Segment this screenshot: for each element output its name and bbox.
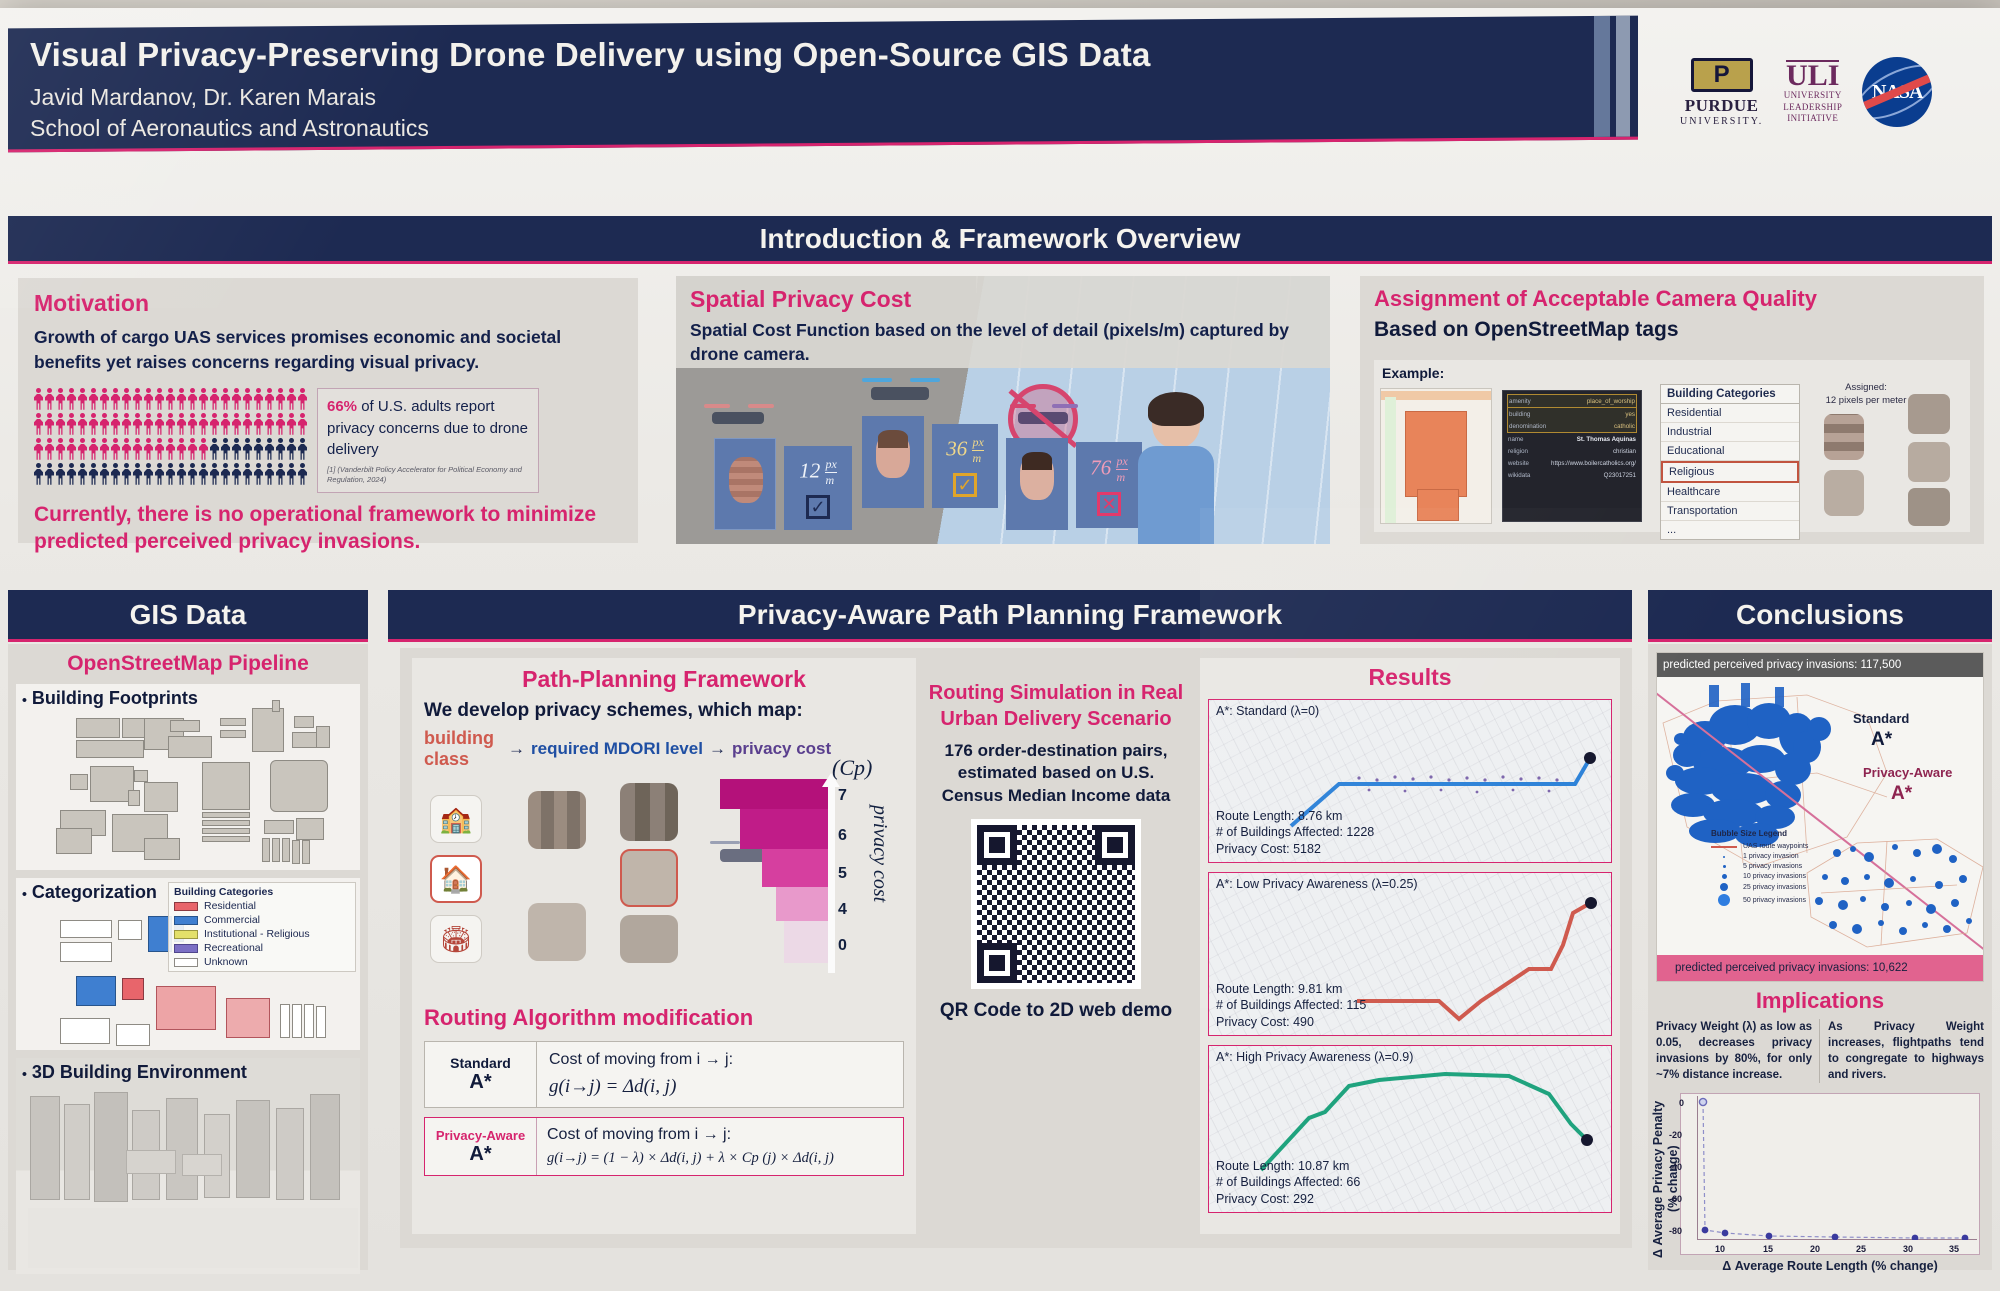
- spatial-body: Spatial Cost Function based on the level…: [690, 318, 1316, 366]
- result-stats: Route Length: 8.76 km # of Buildings Aff…: [1216, 808, 1374, 858]
- result-label: A*: Low Privacy Awareness (λ=0.25): [1216, 877, 1418, 891]
- assigned-value: 12 pixels per meter: [1818, 395, 1914, 408]
- result-stats: Route Length: 10.87 km # of Buildings Af…: [1216, 1158, 1360, 1208]
- result-stats: Route Length: 9.81 km # of Buildings Aff…: [1216, 981, 1366, 1031]
- result-buildings: # of Buildings Affected: 66: [1216, 1174, 1360, 1191]
- result-card-low-privacy: A*: Low Privacy Awareness (λ=0.25) Route…: [1208, 872, 1612, 1036]
- verdict-cross-icon-3: ✕: [1097, 492, 1121, 516]
- result-card-high-privacy: A*: High Privacy Awareness (λ=0.9) Route…: [1208, 1045, 1612, 1213]
- cost-bar-5: [762, 849, 828, 887]
- gis-pipeline-title: OpenStreetMap Pipeline: [16, 652, 360, 676]
- legend-label: Unknown: [204, 956, 248, 968]
- pp-title: Path-Planning Framework: [424, 666, 904, 693]
- osm-tag-value-5: https://www.boilercatholics.org/: [1551, 460, 1636, 468]
- level-unit-den-3: m: [1116, 470, 1127, 485]
- category-row: Industrial: [1661, 423, 1799, 442]
- face-sample-3: [1908, 394, 1950, 434]
- face-chip-3: [620, 915, 678, 963]
- level-unit-num-3: px: [1116, 454, 1127, 470]
- algo-row-privacy-aware: Privacy-Aware A* Cost of moving from i →…: [424, 1117, 904, 1176]
- result-card-standard: A*: Standard (λ=0) Route Length: 8.76 km…: [1208, 699, 1612, 863]
- legend-label: Institutional - Religious: [204, 928, 310, 940]
- chart-xtick: 30: [1903, 1244, 1913, 1254]
- cost-axis-label: privacy cost: [868, 805, 891, 902]
- stat-text: of U.S. adults report privacy concerns d…: [327, 398, 528, 459]
- privacy-invasion-map: predicted perceived privacy invasions: 1…: [1656, 652, 1984, 982]
- results-title: Results: [1208, 664, 1612, 691]
- stadium-building-icon: 🏟: [430, 915, 482, 963]
- chart-ytick: -40: [1669, 1162, 1682, 1172]
- result-privacy-cost: Privacy Cost: 490: [1216, 1014, 1366, 1031]
- cost-tick: 0: [838, 937, 847, 955]
- chain-building-class: building class: [424, 728, 502, 769]
- gis-item-label: Building Footprints: [32, 688, 198, 708]
- department: School of Aeronautics and Astronautics: [30, 115, 1638, 142]
- level-unit-den-1: m: [825, 473, 836, 488]
- person-illustration: [1130, 396, 1222, 544]
- bullet-icon: •: [22, 691, 27, 707]
- uli-line-3: INITIATIVE: [1787, 113, 1838, 124]
- cost-bar-4: [776, 887, 828, 921]
- level-unit-den-2: m: [972, 451, 983, 466]
- drone-icon-3-banned: [1008, 384, 1084, 444]
- gis-banner: GIS Data: [8, 590, 368, 642]
- legend-label: Recreational: [204, 942, 263, 954]
- osm-tag-value-1: yes: [1625, 411, 1635, 418]
- face-sample-5: [1908, 488, 1950, 526]
- algo-row-standard: Standard A* Cost of moving from i → j: g…: [424, 1041, 904, 1108]
- motivation-body: Growth of cargo UAS services promises ec…: [34, 325, 622, 376]
- osm-tag-key-6: wikidata: [1508, 472, 1530, 479]
- citation: [1] (Vanderbilt Policy Accelerator for P…: [327, 465, 529, 485]
- legend-title: Building Categories: [174, 886, 350, 898]
- label-privacy-aware: Privacy-Aware: [1863, 765, 1952, 780]
- level-unit-num-2: px: [972, 435, 983, 451]
- drone-icon-1: [704, 402, 776, 430]
- face-sample-4: [1908, 442, 1950, 482]
- legend-line-swatch: [1711, 846, 1737, 848]
- osm-tag-value-6: Q23017251: [1604, 472, 1636, 479]
- drone-icon-2: [862, 376, 940, 406]
- category-row: ...: [1661, 521, 1799, 539]
- result-buildings: # of Buildings Affected: 1228: [1216, 824, 1374, 841]
- legend-label: 10 privacy invasions: [1743, 873, 1806, 880]
- simulation-card: Routing Simulation in Real Urban Deliver…: [928, 680, 1184, 1023]
- osm-tag-table: amenity place_of_worship building yes de…: [1502, 390, 1642, 522]
- motivation-heading: Motivation: [34, 290, 622, 317]
- verdict-check-icon-2: ✓: [953, 473, 977, 497]
- conclusions-banner: Conclusions: [1648, 590, 1992, 642]
- category-legend: Building Categories Residential Commerci…: [168, 882, 356, 972]
- spatial-privacy-panel: Spatial Privacy Cost Spatial Cost Functi…: [676, 276, 1330, 544]
- label-privacy-aware-astar: A*: [1891, 783, 1912, 805]
- page-title: Visual Privacy-Preserving Drone Delivery…: [30, 36, 1638, 74]
- assignment-subheading: Based on OpenStreetMap tags: [1374, 318, 1970, 342]
- legend-title: Bubble Size Legend: [1711, 829, 1829, 838]
- nasa-logo: NASA: [1862, 57, 1932, 127]
- chain-arrow-2: →: [709, 739, 726, 759]
- logo-row: PURDUE UNIVERSITY. ULI UNIVERSITY LEADER…: [1680, 40, 1980, 144]
- chart-ytick: -60: [1669, 1194, 1682, 1204]
- cost-bar-6: [740, 809, 828, 849]
- categories-title: Building Categories: [1661, 385, 1799, 404]
- nasa-wordmark: NASA: [1872, 81, 1922, 104]
- label-standard-astar: A*: [1871, 729, 1892, 751]
- pictogram-chart: [34, 388, 307, 493]
- category-row: Transportation: [1661, 502, 1799, 521]
- implications-chart: Δ Average Privacy Penalty (% change) 0 -…: [1656, 1089, 1984, 1285]
- chain-arrow-1: →: [508, 739, 525, 759]
- results-card: Results A*: Standard (λ=0): [1200, 658, 1620, 1234]
- osm-tag-key-4: religion: [1508, 448, 1528, 455]
- assignment-heading: Assignment of Acceptable Camera Quality: [1374, 286, 1970, 312]
- cost-tick: 5: [838, 865, 847, 883]
- motivation-panel: Motivation Growth of cargo UAS services …: [18, 278, 638, 543]
- level-unit-num-1: px: [825, 457, 836, 473]
- school-building-icon: 🏫: [430, 795, 482, 843]
- legend-label: Residential: [204, 900, 256, 912]
- chart-ytick: -20: [1669, 1130, 1682, 1140]
- algo-astar-2: A*: [469, 1143, 491, 1166]
- pixelated-face-chip: [528, 791, 586, 849]
- category-row: Residential: [1661, 404, 1799, 423]
- poster-header: Visual Privacy-Preserving Drone Delivery…: [8, 16, 1638, 153]
- legend-label: 5 privacy invasions: [1743, 863, 1802, 870]
- osm-tag-value-0: place_of_worship: [1587, 398, 1635, 405]
- face-sample-2: [1824, 470, 1864, 516]
- chart-ytick: -80: [1669, 1226, 1682, 1236]
- gis-panel: OpenStreetMap Pipeline • Building Footpr…: [8, 644, 368, 1270]
- cost-axis-arrow: [828, 783, 835, 973]
- result-privacy-cost: Privacy Cost: 5182: [1216, 841, 1374, 858]
- routing-title: Routing Algorithm modification: [424, 1005, 904, 1031]
- cost-tick: 4: [838, 901, 847, 919]
- result-label: A*: High Privacy Awareness (λ=0.9): [1216, 1050, 1413, 1064]
- chain-mdori: required MDORI level: [531, 739, 703, 759]
- legend-label: 25 privacy invasions: [1743, 884, 1806, 891]
- chart-xtick: 10: [1715, 1244, 1725, 1254]
- purdue-p-icon: [1691, 58, 1753, 92]
- pp-intro: We develop privacy schemes, which map:: [424, 700, 904, 722]
- cost-bar-7: [720, 779, 828, 809]
- chain-privacy-cost: privacy cost: [732, 739, 831, 759]
- algo-formula-2: g(i→j) = (1 − λ) × Δd(i, j) + λ × Cp (j)…: [547, 1150, 893, 1167]
- mapping-diagram: 🏫 🏠 🏟: [424, 779, 904, 991]
- uli-logo: ULI UNIVERSITY LEADERSHIP INITIATIVE: [1783, 60, 1842, 124]
- gis-item-label: 3D Building Environment: [32, 1062, 247, 1082]
- face-chip-blurred: [528, 903, 586, 961]
- implications-block: Implications Privacy Weight (λ) as low a…: [1656, 988, 1984, 1285]
- osm-tag-value-3: St. Thomas Aquinas: [1577, 436, 1636, 443]
- purdue-logo: PURDUE UNIVERSITY.: [1680, 58, 1763, 127]
- assignment-diagram: Example: amenity place_of_worship buildi…: [1374, 360, 1970, 532]
- implication-col-2: As Privacy Weight increases, flightpaths…: [1828, 1019, 1984, 1083]
- cost-tick: 7: [838, 787, 847, 805]
- path-planning-card: Path-Planning Framework We develop priva…: [412, 658, 916, 1234]
- stat-highlight: 66%: [327, 398, 357, 415]
- level-value-3: 76: [1090, 455, 1111, 479]
- legend-swatch: [174, 944, 198, 953]
- chart-xtick: 25: [1856, 1244, 1866, 1254]
- invasions-banner-standard: predicted perceived privacy invasions: 1…: [1657, 653, 1983, 677]
- chart-xtick: 15: [1763, 1244, 1773, 1254]
- sim-title: Routing Simulation in Real Urban Deliver…: [928, 680, 1184, 732]
- bubble-legend: Bubble Size Legend UAS route waypoints 1…: [1711, 829, 1829, 906]
- legend-swatch: [174, 930, 198, 939]
- result-route-length: Route Length: 9.81 km: [1216, 981, 1366, 998]
- osm-tag-value-2: catholic: [1614, 423, 1635, 430]
- sim-body: 176 order-destination pairs, estimated b…: [928, 740, 1184, 807]
- verdict-check-icon-1: ✓: [806, 495, 830, 519]
- house-building-icon: 🏠: [430, 855, 482, 903]
- cost-symbol: (Cp): [832, 755, 872, 781]
- level-value-2: 36: [946, 436, 967, 460]
- osm-tag-key-2: denomination: [1509, 423, 1546, 430]
- algo-caption-1: Cost of moving from i → j:: [549, 1051, 891, 1069]
- framework-banner: Privacy-Aware Path Planning Framework: [388, 590, 1632, 642]
- legend-label: 1 privacy invasion: [1743, 853, 1799, 860]
- chart-xlabel: Δ Average Route Length (% change): [1680, 1259, 1980, 1273]
- osm-map-thumbnail: [1380, 388, 1492, 524]
- legend-swatch: [174, 916, 198, 925]
- osm-tag-key-0: amenity: [1509, 398, 1531, 405]
- chart-plot-area: 0 -20 -40 -60 -80: [1680, 1093, 1980, 1255]
- face-capture-mid: [862, 416, 924, 508]
- category-row: Educational: [1661, 442, 1799, 461]
- result-route-length: Route Length: 8.76 km: [1216, 808, 1374, 825]
- statistic-callout: 66% of U.S. adults report privacy concer…: [317, 388, 539, 493]
- algo-astar-1: A*: [469, 1071, 491, 1094]
- chart-ytick: 0: [1679, 1098, 1684, 1108]
- category-row-selected: Religious: [1661, 461, 1799, 483]
- result-buildings: # of Buildings Affected: 115: [1216, 997, 1366, 1014]
- osm-tag-value-4: christian: [1613, 448, 1636, 455]
- result-privacy-cost: Privacy Cost: 292: [1216, 1191, 1360, 1208]
- purdue-subtext: UNIVERSITY.: [1680, 116, 1763, 127]
- building-footprints-figure: • Building Footprints: [16, 684, 360, 870]
- purdue-wordmark: PURDUE: [1685, 96, 1759, 116]
- uli-mark: ULI: [1786, 60, 1839, 91]
- implications-title: Implications: [1656, 988, 1984, 1014]
- uli-line-2: LEADERSHIP: [1783, 102, 1842, 113]
- cost-tick: 6: [838, 827, 847, 845]
- osm-tag-key-5: website: [1508, 460, 1529, 468]
- chart-series: [1697, 1096, 1977, 1240]
- qr-code[interactable]: [971, 819, 1141, 989]
- pixelated-face-sample: [1824, 414, 1864, 460]
- building-3d-figure: • 3D Building Environment: [16, 1058, 360, 1274]
- algo-name-1: Standard: [450, 1055, 511, 1071]
- face-chip-selected: [620, 849, 678, 907]
- motivation-closing: Currently, there is no operational frame…: [34, 501, 622, 556]
- intro-banner: Introduction & Framework Overview: [8, 216, 1992, 264]
- category-row: Healthcare: [1661, 483, 1799, 502]
- assigned-caption: Assigned: 12 pixels per meter: [1818, 382, 1914, 408]
- legend-swatch: [174, 958, 198, 967]
- qr-caption: QR Code to 2D web demo: [928, 999, 1184, 1023]
- result-label: A*: Standard (λ=0): [1216, 704, 1319, 718]
- example-label: Example:: [1382, 365, 1962, 381]
- building-categories-table: Building Categories Residential Industri…: [1660, 384, 1800, 540]
- legend-swatch: [174, 902, 198, 911]
- implication-col-1: Privacy Weight (λ) as low as 0.05, decre…: [1656, 1019, 1820, 1083]
- level-value-1: 12: [799, 458, 820, 482]
- face-capture-low: [714, 438, 776, 530]
- result-route-length: Route Length: 10.87 km: [1216, 1158, 1360, 1175]
- bullet-icon: •: [22, 1065, 27, 1081]
- legend-label: Commercial: [204, 914, 260, 926]
- level-badge-12: 12 px m ✓: [784, 446, 852, 530]
- authors: Javid Mardanov, Dr. Karen Marais: [30, 84, 1638, 111]
- label-standard: Standard: [1853, 711, 1909, 726]
- face-capture-high: [1006, 438, 1068, 530]
- algo-caption-2: Cost of moving from i → j:: [547, 1126, 893, 1144]
- level-badge-36: 36 px m ✓: [932, 424, 998, 508]
- uli-line-1: UNIVERSITY: [1784, 90, 1842, 101]
- osm-tag-key-1: building: [1509, 411, 1530, 418]
- bullet-icon: •: [22, 885, 27, 901]
- conclusions-panel: predicted perceived privacy invasions: 1…: [1648, 644, 1992, 1270]
- assigned-label: Assigned:: [1818, 382, 1914, 395]
- legend-label: 50 privacy invasions: [1743, 897, 1806, 904]
- spatial-heading: Spatial Privacy Cost: [690, 286, 1316, 313]
- chart-xtick: 20: [1810, 1244, 1820, 1254]
- algo-formula-1: g(i→j) = Δd(i, j): [549, 1076, 891, 1098]
- legend-label: UAS route waypoints: [1743, 843, 1808, 850]
- chart-xtick: 35: [1949, 1244, 1959, 1254]
- assignment-panel: Assignment of Acceptable Camera Quality …: [1360, 276, 1984, 544]
- osm-tag-key-3: name: [1508, 436, 1523, 443]
- framework-panel: Path-Planning Framework We develop priva…: [400, 648, 1632, 1248]
- invasions-banner-privacy-aware: predicted perceived privacy invasions: 1…: [1657, 955, 1983, 981]
- pixelated-face-chip-2: [620, 783, 678, 841]
- gis-item-label: Categorization: [32, 882, 157, 902]
- algo-name-2: Privacy-Aware: [436, 1128, 525, 1143]
- categorization-figure: • Categorization Building Categories Res…: [16, 878, 360, 1050]
- research-poster: Visual Privacy-Preserving Drone Delivery…: [0, 8, 2000, 1291]
- cost-bar-0: [784, 921, 828, 963]
